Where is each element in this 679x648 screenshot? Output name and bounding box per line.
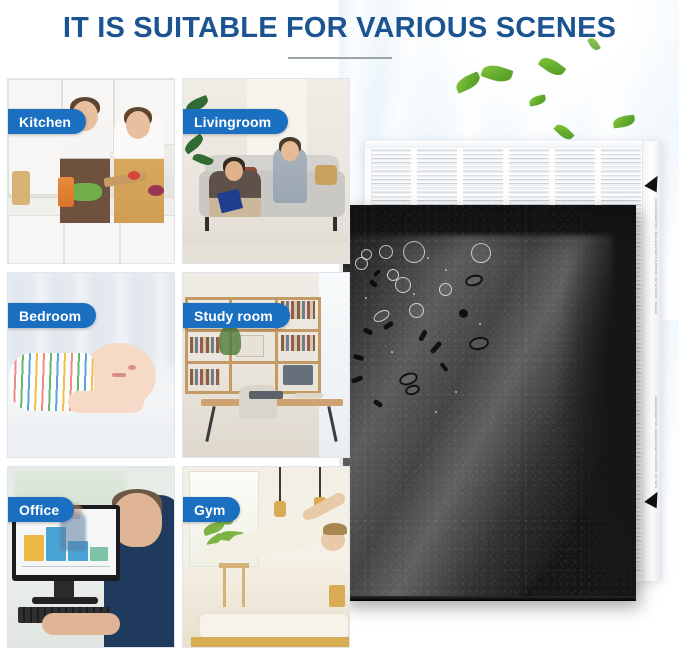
particle-icon: [361, 249, 372, 260]
carbon-bottom-edge: [343, 596, 636, 601]
filter-side-microtext: AIRFLOW DIRECTION • REPLACE EVERY 6-8 MO…: [648, 199, 657, 314]
scene-badge-livingroom: Livingroom: [182, 109, 288, 134]
scene-badge-office: Office: [7, 497, 74, 522]
bedroom-photo: [8, 273, 174, 457]
scene-card-gym[interactable]: Gym: [182, 466, 350, 648]
scene-badge-gym: Gym: [182, 497, 240, 522]
particle-icon: [459, 309, 468, 318]
dust-speck: [435, 411, 437, 413]
dust-speck: [413, 293, 415, 295]
livingroom-photo: [183, 79, 349, 263]
filter-side-microtext: AIRFLOW DIRECTION • REPLACE EVERY 6-8 MO…: [648, 396, 657, 488]
hepa-frame-top: [365, 141, 662, 148]
particle-icon: [379, 245, 393, 259]
scene-card-studyroom[interactable]: Study room: [182, 272, 350, 458]
office-photo: [8, 467, 174, 647]
particle-icon: [403, 241, 425, 263]
scene-badge-studyroom: Study room: [182, 303, 290, 328]
dust-speck: [455, 391, 457, 393]
scene-badge-bedroom: Bedroom: [7, 303, 96, 328]
scene-grid: Kitchen Livingroom: [7, 78, 337, 638]
dust-speck: [391, 351, 393, 353]
studyroom-photo: [183, 273, 349, 457]
dust-speck: [479, 323, 481, 325]
scene-badge-kitchen: Kitchen: [7, 109, 86, 134]
carbon-beam-mask: [476, 205, 636, 601]
header: IT IS SUITABLE FOR VARIOUS SCENES: [0, 0, 679, 62]
scene-card-bedroom[interactable]: Bedroom: [7, 272, 175, 458]
gym-photo: [183, 467, 349, 647]
carbon-filter: [343, 205, 636, 601]
product-scene: AIRFLOW DIRECTION • REPLACE EVERY 6-8 MO…: [339, 0, 679, 643]
dust-speck: [365, 297, 367, 299]
kitchen-photo: [8, 79, 174, 263]
page-title: IT IS SUITABLE FOR VARIOUS SCENES: [0, 12, 679, 45]
particle-icon: [409, 303, 424, 318]
particle-icon: [439, 283, 452, 296]
dust-speck: [427, 257, 429, 259]
scene-card-kitchen[interactable]: Kitchen: [7, 78, 175, 264]
dust-speck: [445, 269, 447, 271]
particle-icon: [471, 243, 491, 263]
scene-card-office[interactable]: Office: [7, 466, 175, 648]
title-divider: [288, 57, 392, 59]
particle-icon: [395, 277, 411, 293]
scene-card-livingroom[interactable]: Livingroom: [182, 78, 350, 264]
